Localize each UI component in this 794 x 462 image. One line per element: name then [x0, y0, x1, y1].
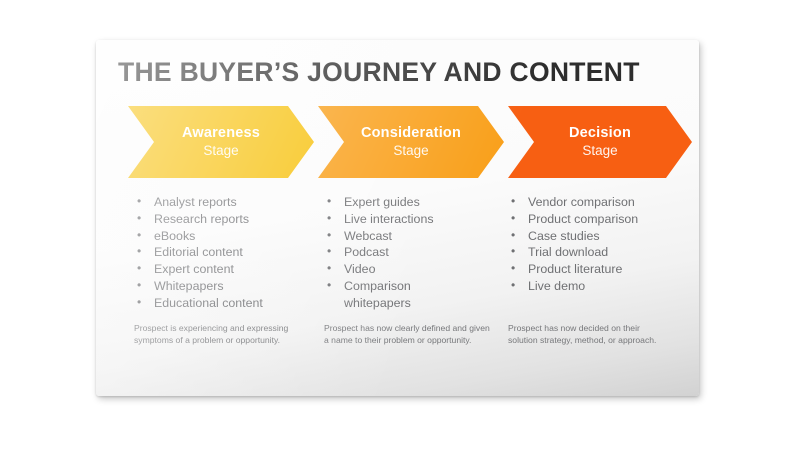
stage-sub-decision: Stage: [582, 142, 617, 160]
stage-caption-decision: Prospect has now decided on their soluti…: [508, 323, 670, 346]
list-item: eBooks: [134, 229, 312, 245]
slide-card: THE BUYER’S JOURNEY AND CONTENT Awarenes…: [96, 40, 699, 396]
page-title: THE BUYER’S JOURNEY AND CONTENT: [118, 57, 640, 88]
list-item: Video: [324, 262, 502, 278]
list-item: Whitepapers: [134, 279, 312, 295]
list-item: Analyst reports: [134, 195, 312, 211]
list-item: Comparison: [324, 279, 502, 295]
stage-sub-awareness: Stage: [203, 142, 238, 160]
stage-chevron-awareness[interactable]: Awareness Stage: [128, 106, 314, 178]
list-item: Editorial content: [134, 245, 312, 261]
list-item: Product literature: [508, 262, 686, 278]
list-item: Vendor comparison: [508, 195, 686, 211]
stage-chevron-row: Awareness Stage Consideration Stage Deci…: [96, 106, 699, 180]
list-item: Expert guides: [324, 195, 502, 211]
list-item: Live interactions: [324, 212, 502, 228]
content-list-decision: Vendor comparison Product comparison Cas…: [508, 195, 686, 295]
list-item: Product comparison: [508, 212, 686, 228]
stage-content-columns: Analyst reports Research reports eBooks …: [96, 195, 699, 395]
list-item: Expert content: [134, 262, 312, 278]
list-item: Webcast: [324, 229, 502, 245]
stage-chevron-decision[interactable]: Decision Stage: [508, 106, 692, 178]
stage-name-decision: Decision: [569, 124, 631, 142]
list-item: Educational content: [134, 296, 312, 312]
list-item: Podcast: [324, 245, 502, 261]
stage-caption-awareness: Prospect is experiencing and expressing …: [134, 323, 304, 346]
stage-chevron-consideration[interactable]: Consideration Stage: [318, 106, 504, 178]
stage-name-awareness: Awareness: [182, 124, 260, 142]
content-list-awareness: Analyst reports Research reports eBooks …: [134, 195, 312, 312]
content-list-consideration: Expert guides Live interactions Webcast …: [324, 195, 502, 312]
list-item: Live demo: [508, 279, 686, 295]
stage-column-decision: Vendor comparison Product comparison Cas…: [508, 195, 686, 296]
stage-sub-consideration: Stage: [393, 142, 428, 160]
list-item: Trial download: [508, 245, 686, 261]
stage-column-consideration: Expert guides Live interactions Webcast …: [324, 195, 502, 313]
list-item: Research reports: [134, 212, 312, 228]
stage-name-consideration: Consideration: [361, 124, 461, 142]
stage-column-awareness: Analyst reports Research reports eBooks …: [134, 195, 312, 313]
stage-caption-consideration: Prospect has now clearly defined and giv…: [324, 323, 494, 346]
list-item-continuation: whitepapers: [324, 296, 502, 312]
list-item: Case studies: [508, 229, 686, 245]
